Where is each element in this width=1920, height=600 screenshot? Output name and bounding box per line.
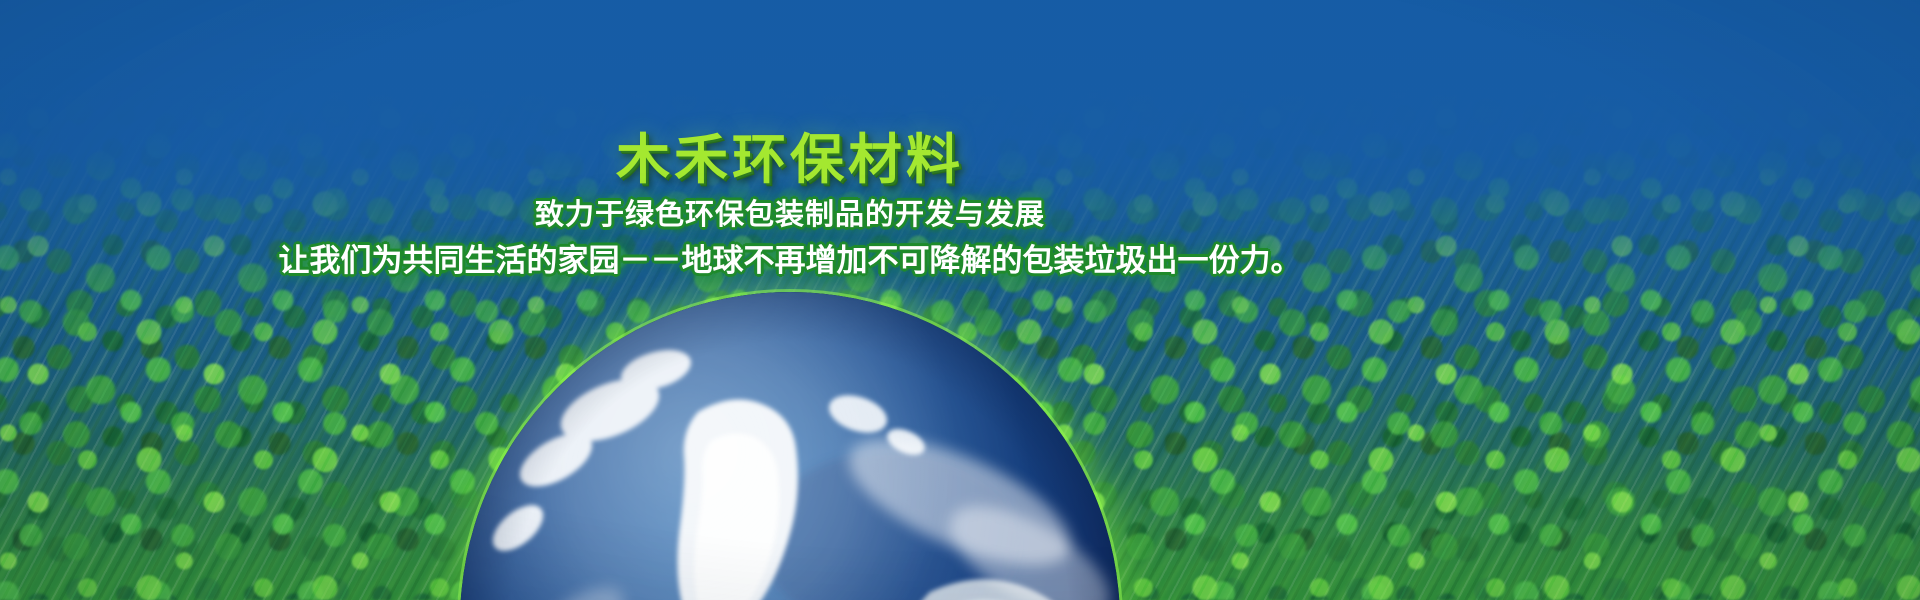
banner-subtitle-line-2: 让我们为共同生活的家园－－地球不再增加不可降解的包装垃圾出一份力。 xyxy=(0,244,1750,279)
page-title: 木禾环保材料 xyxy=(0,132,1750,189)
earth-globe xyxy=(460,292,1120,600)
banner-copy: 木禾环保材料 致力于绿色环保包装制品的开发与发展 让我们为共同生活的家园－－地球… xyxy=(0,132,1920,278)
banner-subtitle-line-1: 致力于绿色环保包装制品的开发与发展 xyxy=(0,199,1750,231)
hero-banner: 木禾环保材料 致力于绿色环保包装制品的开发与发展 让我们为共同生活的家园－－地球… xyxy=(0,0,1920,600)
